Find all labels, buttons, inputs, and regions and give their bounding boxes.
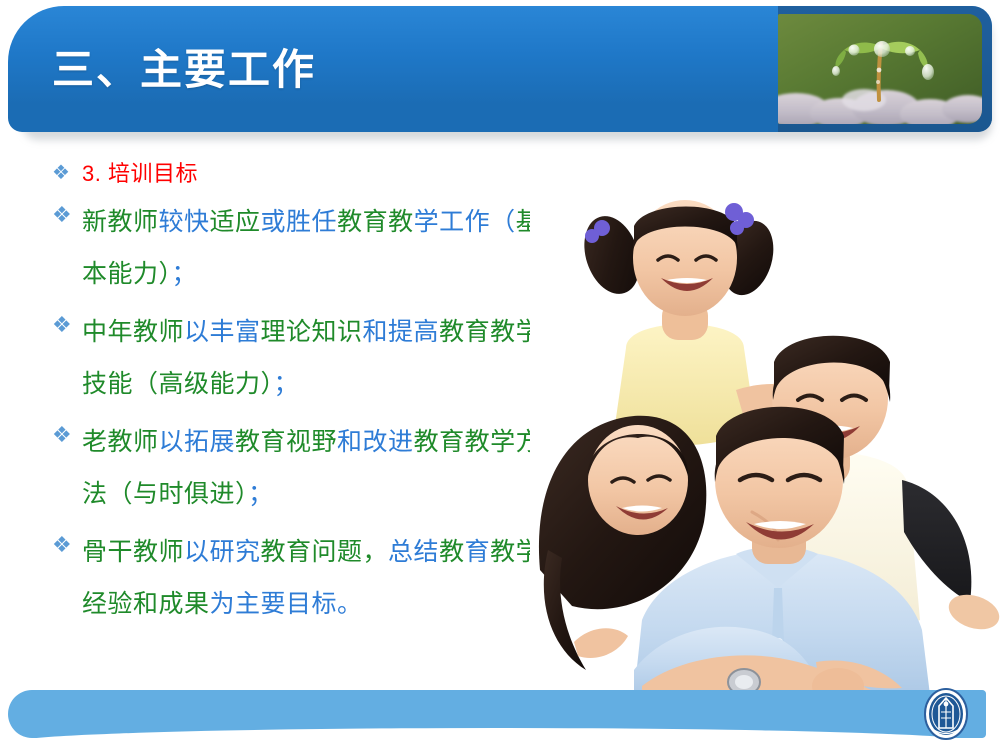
diamond-bullet-icon: ❖	[52, 526, 82, 560]
diamond-bullet-icon: ❖	[52, 416, 82, 450]
footer-band	[8, 690, 986, 738]
list-item: ❖ 老教师以拓展教育视野和改进教育教学方法（与时俱进）；	[52, 416, 552, 520]
list-item: ❖ 3. 培训目标	[52, 158, 552, 190]
bullet-list: ❖ 3. 培训目标 ❖ 新教师较快适应或胜任教育教学工作（基本能力）； ❖ 中年…	[52, 158, 552, 636]
presentation-slide: 三、主要工作	[0, 0, 1000, 750]
list-item: ❖ 新教师较快适应或胜任教育教学工作（基本能力）；	[52, 196, 552, 300]
slide-header: 三、主要工作	[8, 6, 992, 132]
bullet-heading-text: 3. 培训目标	[82, 158, 552, 190]
seedling-photo	[778, 14, 982, 124]
list-item: ❖ 中年教师以丰富理论知识和提高教育教学技能（高级能力）；	[52, 306, 552, 410]
diamond-bullet-icon: ❖	[52, 196, 82, 230]
bullet-senior-teacher-text: 老教师以拓展教育视野和改进教育教学方法（与时俱进）；	[82, 416, 552, 520]
institution-seal-logo	[920, 682, 972, 742]
diamond-bullet-icon: ❖	[52, 306, 82, 340]
page-title: 三、主要工作	[52, 44, 316, 96]
bullet-new-teacher-text: 新教师较快适应或胜任教育教学工作（基本能力）；	[82, 196, 552, 300]
diamond-bullet-icon: ❖	[52, 158, 82, 186]
bullet-midcareer-teacher-text: 中年教师以丰富理论知识和提高教育教学技能（高级能力）；	[82, 306, 552, 410]
bullet-backbone-teacher-text: 骨干教师以研究教育问题，总结教育教学经验和成果为主要目标。	[82, 526, 552, 630]
list-item: ❖ 骨干教师以研究教育问题，总结教育教学经验和成果为主要目标。	[52, 526, 552, 630]
family-photo	[530, 150, 1000, 695]
